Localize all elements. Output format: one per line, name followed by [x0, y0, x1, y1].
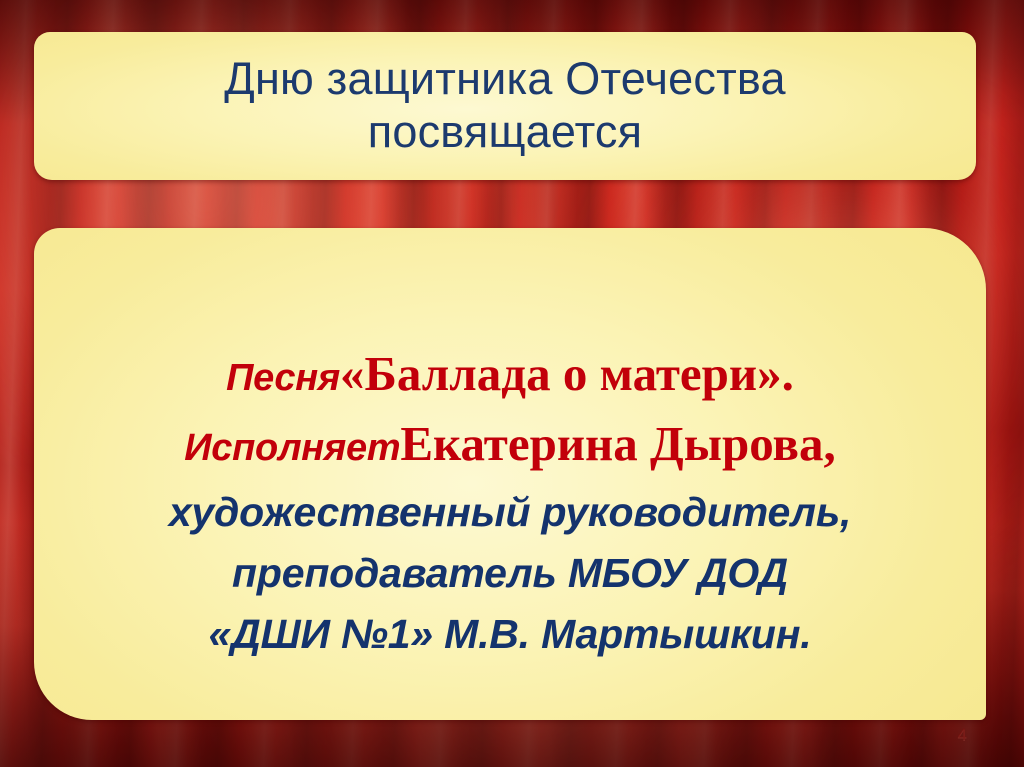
body-line-1-label: Песня — [226, 357, 340, 399]
presentation-slide: Дню защитника Отечествапосвящается Песня… — [0, 0, 1024, 767]
body-line-2-performer: Екатерина Дырова, — [400, 416, 835, 471]
body-line-4: преподаватель МБОУ ДОД — [60, 547, 960, 600]
body-line-1-title: «Баллада о матери». — [340, 346, 794, 401]
body-line-1: Песня«Баллада о матери». — [60, 342, 960, 406]
body-line-3-text: художественный руководитель, — [169, 489, 851, 535]
title-line-2: посвящается — [368, 106, 642, 157]
title-panel: Дню защитника Отечествапосвящается — [34, 32, 976, 180]
body-line-2-label: Исполняет — [184, 427, 400, 469]
body-line-2: ИсполняетЕкатерина Дырова, — [60, 412, 960, 476]
body-line-5: «ДШИ №1» М.В. Мартышкин. — [60, 608, 960, 661]
body-line-5-text: «ДШИ №1» М.В. Мартышкин. — [209, 611, 812, 657]
body-text-block: Песня«Баллада о матери». ИсполняетЕкатер… — [34, 342, 986, 661]
slide-number: 4 — [958, 725, 967, 745]
body-line-4-text: преподаватель МБОУ ДОД — [232, 550, 788, 596]
slide-title: Дню защитника Отечествапосвящается — [184, 53, 825, 158]
body-panel: Песня«Баллада о матери». ИсполняетЕкатер… — [34, 228, 986, 720]
title-line-1: Дню защитника Отечества — [224, 53, 785, 104]
body-line-3: художественный руководитель, — [60, 486, 960, 539]
